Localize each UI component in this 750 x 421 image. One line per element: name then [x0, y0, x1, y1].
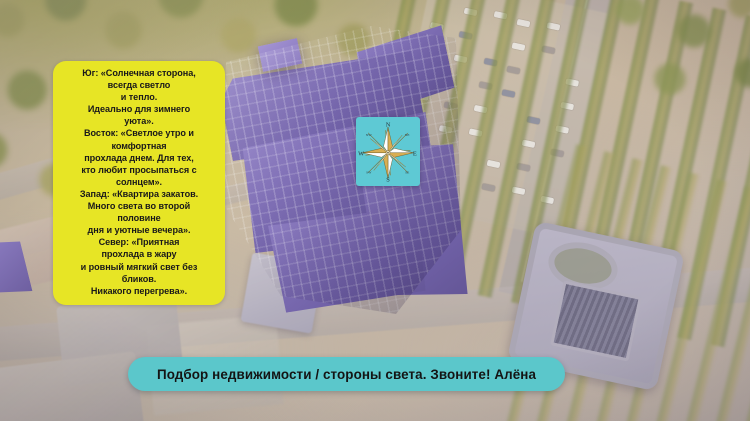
compass-label-s: S — [386, 177, 390, 184]
call-to-action-text: Подбор недвижимости / стороны света. Зво… — [157, 367, 536, 382]
highlighted-building — [216, 20, 466, 320]
orientation-info-text: Юг: «Солнечная сторона,всегда светлои те… — [58, 67, 220, 297]
compass-label-n: N — [386, 122, 391, 129]
compass-label-e: E — [413, 150, 417, 157]
compass-label-se: SE — [405, 170, 409, 174]
compass-label-sw: SW — [366, 170, 372, 174]
compass-label-w: W — [358, 150, 364, 157]
compass-label-ne: NE — [405, 133, 410, 137]
advert-image: Юг: «Солнечная сторона,всегда светлои те… — [0, 0, 750, 421]
compass-label-nw: NW — [366, 133, 373, 137]
compass-rose: N S E W NW NE SW SE — [356, 117, 420, 186]
building-rooftop-block — [258, 38, 303, 72]
call-to-action-banner[interactable]: Подбор недвижимости / стороны света. Зво… — [128, 357, 565, 391]
orientation-info-card: Юг: «Солнечная сторона,всегда светлои те… — [53, 61, 225, 305]
